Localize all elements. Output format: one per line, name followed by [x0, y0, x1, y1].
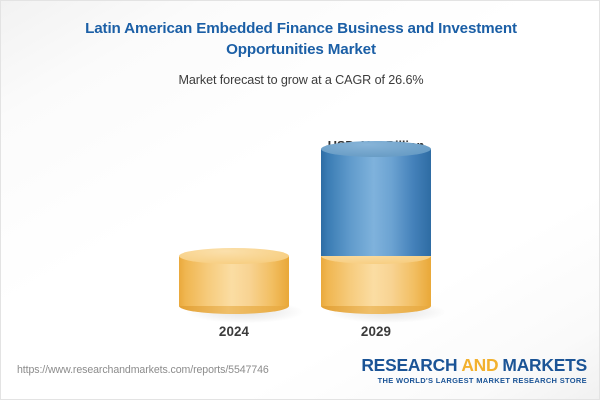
- bar-category-label-2029: 2029: [276, 324, 476, 339]
- bar-cylinder-2029: [321, 149, 431, 306]
- bar-segment-2029-yellow-base: [321, 256, 431, 306]
- report-url-link[interactable]: https://www.researchandmarkets.com/repor…: [17, 364, 269, 376]
- cylinder-top-ellipse: [179, 248, 289, 264]
- chart-card: Latin American Embedded Finance Business…: [0, 0, 600, 400]
- bar-cylinder-2024: [179, 256, 289, 306]
- bar-group-2029: USD 41.4 Billion 2029: [321, 304, 431, 349]
- chart-footer: https://www.researchandmarkets.com/repor…: [1, 347, 600, 399]
- chart-plot-area: USD 11.8 Billion 2024 USD 41.4 Billion: [1, 1, 600, 349]
- research-and-markets-logo[interactable]: RESEARCHANDMARKETS THE WORLD'S LARGEST M…: [361, 355, 587, 385]
- bar-group-2024: USD 11.8 Billion 2024: [179, 304, 289, 349]
- cylinder-top-ellipse: [321, 141, 431, 157]
- cylinder-body: [321, 149, 431, 256]
- logo-wordmark: RESEARCHANDMARKETS: [361, 355, 587, 375]
- logo-word-and: AND: [461, 355, 498, 375]
- logo-word-markets: MARKETS: [502, 355, 587, 375]
- bar-segment-2024-yellow: [179, 256, 289, 306]
- logo-tagline: THE WORLD'S LARGEST MARKET RESEARCH STOR…: [361, 376, 587, 385]
- logo-word-research: RESEARCH: [361, 355, 457, 375]
- bar-segment-2029-blue: [321, 149, 431, 256]
